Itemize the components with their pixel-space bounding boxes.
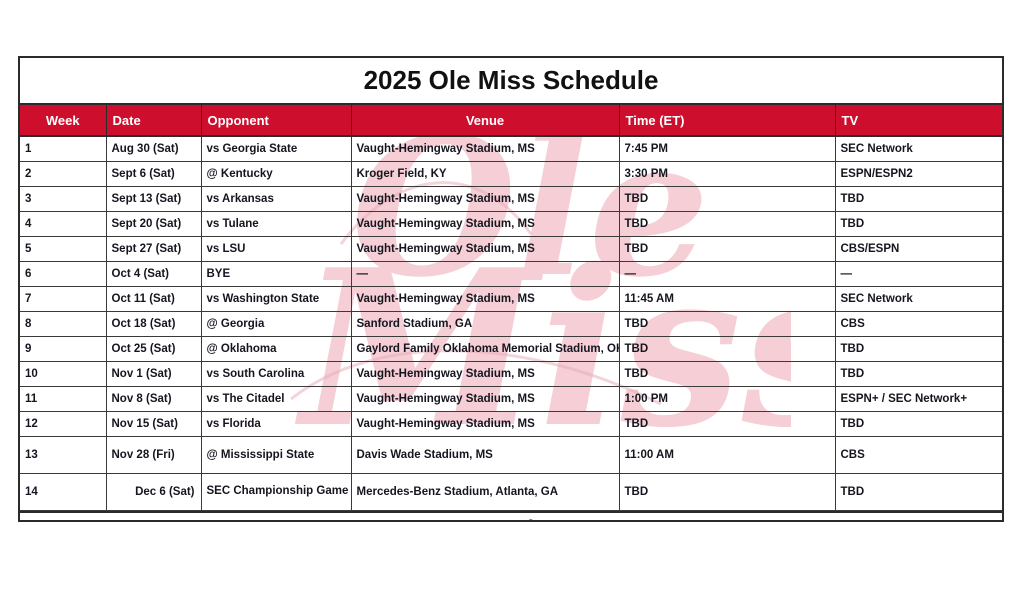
cell-date: Oct 11 (Sat) xyxy=(106,287,201,312)
cell-week: 8 xyxy=(20,312,106,337)
cell-date: Sept 6 (Sat) xyxy=(106,162,201,187)
cell-opponent: vs South Carolina xyxy=(201,362,351,387)
cell-opponent: BYE xyxy=(201,262,351,287)
cell-opponent: vs Washington State xyxy=(201,287,351,312)
cell-tv: CBS/ESPN xyxy=(835,237,1002,262)
cell-week: 3 xyxy=(20,187,106,212)
cell-venue: Mercedes-Benz Stadium, Atlanta, GA xyxy=(351,474,619,511)
cell-time: 11:45 AM xyxy=(619,287,835,312)
table-row[interactable]: 9Oct 25 (Sat)@ OklahomaGaylord Family Ok… xyxy=(20,337,1002,362)
cell-opponent: SEC Championship Game xyxy=(201,474,351,511)
cell-time: TBD xyxy=(619,312,835,337)
table-row[interactable]: 10Nov 1 (Sat)vs South CarolinaVaught-Hem… xyxy=(20,362,1002,387)
cell-time: — xyxy=(619,262,835,287)
cell-week: 1 xyxy=(20,136,106,162)
cell-tv: TBD xyxy=(835,362,1002,387)
table-row[interactable]: 11Nov 8 (Sat)vs The CitadelVaught-Heming… xyxy=(20,387,1002,412)
cell-opponent: @ Georgia xyxy=(201,312,351,337)
cell-week: 13 xyxy=(20,437,106,474)
table-row[interactable]: 6Oct 4 (Sat)BYE——— xyxy=(20,262,1002,287)
schedule-table-body: 1Aug 30 (Sat)vs Georgia StateVaught-Hemi… xyxy=(20,136,1002,511)
site-credit[interactable]: SportsBrackets.net xyxy=(415,517,608,523)
cell-opponent: vs LSU xyxy=(201,237,351,262)
cell-date: Aug 30 (Sat) xyxy=(106,136,201,162)
cell-venue: Vaught-Hemingway Stadium, MS xyxy=(351,362,619,387)
cell-week: 12 xyxy=(20,412,106,437)
cell-venue: Gaylord Family Oklahoma Memorial Stadium… xyxy=(351,337,619,362)
cell-date: Sept 20 (Sat) xyxy=(106,212,201,237)
schedule-table: Week Date Opponent Venue Time (ET) TV 1A… xyxy=(20,103,1002,511)
cell-opponent: vs Georgia State xyxy=(201,136,351,162)
cell-tv: CBS xyxy=(835,437,1002,474)
cell-time: TBD xyxy=(619,212,835,237)
cell-venue: Vaught-Hemingway Stadium, MS xyxy=(351,136,619,162)
table-header-row: Week Date Opponent Venue Time (ET) TV xyxy=(20,104,1002,136)
cell-week: 2 xyxy=(20,162,106,187)
cell-time: 1:00 PM xyxy=(619,387,835,412)
cell-venue: Vaught-Hemingway Stadium, MS xyxy=(351,287,619,312)
cell-tv: ESPN/ESPN2 xyxy=(835,162,1002,187)
cell-opponent: @ Mississippi State xyxy=(201,437,351,474)
cell-tv: TBD xyxy=(835,212,1002,237)
cell-time: 3:30 PM xyxy=(619,162,835,187)
cell-time: TBD xyxy=(619,474,835,511)
column-header-date[interactable]: Date xyxy=(106,104,201,136)
cell-time: TBD xyxy=(619,187,835,212)
cell-date: Sept 13 (Sat) xyxy=(106,187,201,212)
cell-venue: Sanford Stadium, GA xyxy=(351,312,619,337)
column-header-tv[interactable]: TV xyxy=(835,104,1002,136)
cell-venue: Vaught-Hemingway Stadium, MS xyxy=(351,187,619,212)
footer-band: SportsBrackets.net xyxy=(20,511,1002,522)
cell-venue: — xyxy=(351,262,619,287)
cell-date: Nov 28 (Fri) xyxy=(106,437,201,474)
table-row[interactable]: 14Dec 6 (Sat)SEC Championship GameMerced… xyxy=(20,474,1002,511)
cell-time: TBD xyxy=(619,337,835,362)
cell-venue: Vaught-Hemingway Stadium, MS xyxy=(351,387,619,412)
cell-tv: SEC Network xyxy=(835,287,1002,312)
cell-week: 11 xyxy=(20,387,106,412)
cell-opponent: @ Oklahoma xyxy=(201,337,351,362)
cell-time: TBD xyxy=(619,412,835,437)
cell-venue: Vaught-Hemingway Stadium, MS xyxy=(351,237,619,262)
cell-opponent: vs Tulane xyxy=(201,212,351,237)
cell-date: Nov 8 (Sat) xyxy=(106,387,201,412)
cell-venue: Kroger Field, KY xyxy=(351,162,619,187)
cell-time: 11:00 AM xyxy=(619,437,835,474)
cell-tv: ESPN+ / SEC Network+ xyxy=(835,387,1002,412)
cell-venue: Vaught-Hemingway Stadium, MS xyxy=(351,212,619,237)
table-row[interactable]: 2Sept 6 (Sat)@ KentuckyKroger Field, KY3… xyxy=(20,162,1002,187)
cell-time: TBD xyxy=(619,237,835,262)
cell-tv: TBD xyxy=(835,187,1002,212)
table-row[interactable]: 4Sept 20 (Sat)vs TulaneVaught-Hemingway … xyxy=(20,212,1002,237)
column-header-opponent[interactable]: Opponent xyxy=(201,104,351,136)
cell-date: Sept 27 (Sat) xyxy=(106,237,201,262)
table-row[interactable]: 7Oct 11 (Sat)vs Washington StateVaught-H… xyxy=(20,287,1002,312)
cell-venue: Vaught-Hemingway Stadium, MS xyxy=(351,412,619,437)
cell-date: Nov 1 (Sat) xyxy=(106,362,201,387)
cell-date: Oct 18 (Sat) xyxy=(106,312,201,337)
cell-week: 6 xyxy=(20,262,106,287)
column-header-time[interactable]: Time (ET) xyxy=(619,104,835,136)
table-row[interactable]: 13Nov 28 (Fri)@ Mississippi StateDavis W… xyxy=(20,437,1002,474)
cell-tv: TBD xyxy=(835,337,1002,362)
cell-date: Oct 4 (Sat) xyxy=(106,262,201,287)
cell-week: 9 xyxy=(20,337,106,362)
cell-venue: Davis Wade Stadium, MS xyxy=(351,437,619,474)
table-row[interactable]: 3Sept 13 (Sat)vs ArkansasVaught-Hemingwa… xyxy=(20,187,1002,212)
cell-week: 10 xyxy=(20,362,106,387)
cell-date: Nov 15 (Sat) xyxy=(106,412,201,437)
table-row[interactable]: 8Oct 18 (Sat)@ GeorgiaSanford Stadium, G… xyxy=(20,312,1002,337)
column-header-venue[interactable]: Venue xyxy=(351,104,619,136)
cell-week: 5 xyxy=(20,237,106,262)
cell-tv: SEC Network xyxy=(835,136,1002,162)
cell-opponent: vs The Citadel xyxy=(201,387,351,412)
table-row[interactable]: 12Nov 15 (Sat)vs FloridaVaught-Hemingway… xyxy=(20,412,1002,437)
schedule-sheet: Ole Miss 2025 Ole Miss Schedule Week Dat… xyxy=(18,56,1004,522)
cell-week: 4 xyxy=(20,212,106,237)
cell-opponent: vs Florida xyxy=(201,412,351,437)
cell-tv: CBS xyxy=(835,312,1002,337)
cell-tv: — xyxy=(835,262,1002,287)
column-header-week[interactable]: Week xyxy=(20,104,106,136)
cell-tv: TBD xyxy=(835,412,1002,437)
page-title: 2025 Ole Miss Schedule xyxy=(364,65,659,96)
page-title-band: 2025 Ole Miss Schedule xyxy=(20,58,1002,103)
cell-opponent: vs Arkansas xyxy=(201,187,351,212)
cell-time: 7:45 PM xyxy=(619,136,835,162)
cell-tv: TBD xyxy=(835,474,1002,511)
table-row[interactable]: 5Sept 27 (Sat)vs LSUVaught-Hemingway Sta… xyxy=(20,237,1002,262)
cell-time: TBD xyxy=(619,362,835,387)
cell-date: Dec 6 (Sat) xyxy=(106,474,201,511)
table-row[interactable]: 1Aug 30 (Sat)vs Georgia StateVaught-Hemi… xyxy=(20,136,1002,162)
cell-week: 14 xyxy=(20,474,106,511)
cell-date: Oct 25 (Sat) xyxy=(106,337,201,362)
cell-week: 7 xyxy=(20,287,106,312)
cell-opponent: @ Kentucky xyxy=(201,162,351,187)
